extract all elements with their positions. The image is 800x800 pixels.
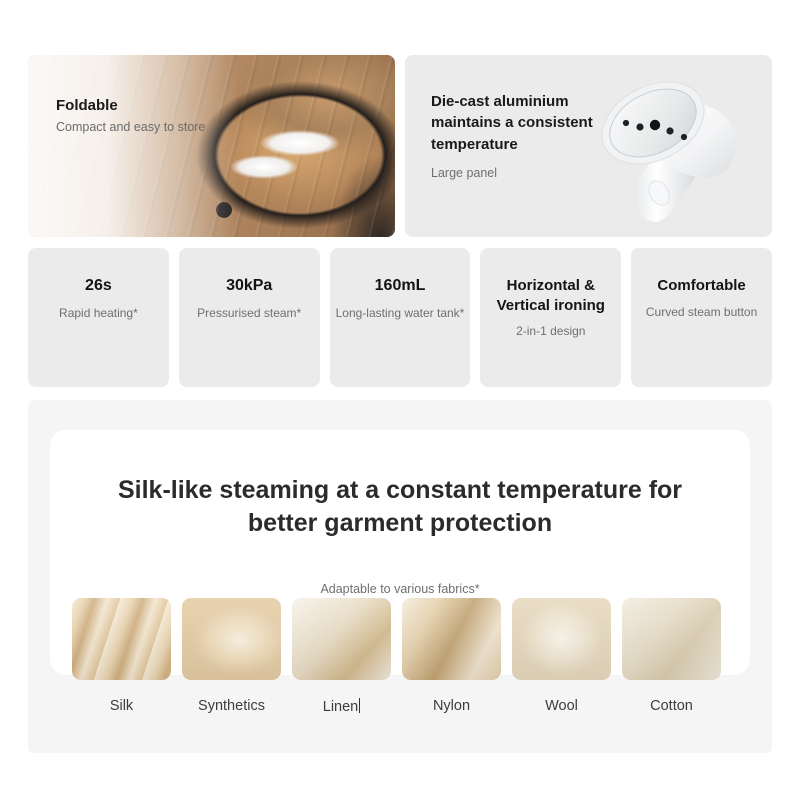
fabric-label-nylon[interactable]: Nylon	[402, 698, 501, 715]
fabric-swatch-cotton[interactable]	[622, 598, 721, 680]
product-feature-page: Foldable Compact and easy to store Die-c…	[0, 0, 800, 800]
spec-card-water-tank[interactable]: 160mL Long-lasting water tank*	[330, 248, 471, 387]
fabric-label-text-nylon: Nylon	[433, 698, 470, 714]
fabric-label-text-silk: Silk	[110, 698, 133, 714]
fabric-swatch-linen[interactable]	[292, 598, 391, 680]
spec-value-pressurised-steam: 30kPa	[179, 276, 320, 297]
hero-subtitle-aluminium: Large panel	[431, 166, 621, 180]
fabric-swatch-nylon[interactable]	[402, 598, 501, 680]
fabric-swatch-row	[72, 598, 732, 680]
fabric-section-subheading: Adaptable to various fabrics*	[50, 582, 750, 596]
fabric-swatch-silk[interactable]	[72, 598, 171, 680]
hero-card-foldable[interactable]: Foldable Compact and easy to store	[28, 55, 395, 237]
fabric-label-text-linen: Linen	[323, 699, 358, 715]
fabric-section-heading: Silk-like steaming at a constant tempera…	[50, 474, 750, 540]
spec-value-water-tank: 160mL	[330, 276, 471, 297]
fabric-label-row: Silk Synthetics Linen Nylon Wool Cotton	[72, 698, 732, 715]
fabric-label-linen[interactable]: Linen	[292, 698, 391, 715]
spec-label-comfortable: Curved steam button	[631, 304, 772, 320]
fabric-swatch-wool[interactable]	[512, 598, 611, 680]
text-caret	[359, 698, 360, 713]
spec-label-water-tank: Long-lasting water tank*	[330, 305, 471, 321]
spec-card-rapid-heating[interactable]: 26s Rapid heating*	[28, 248, 169, 387]
spec-label-ironing-direction: 2-in-1 design	[480, 323, 621, 339]
spec-card-ironing-direction[interactable]: Horizontal & Vertical ironing 2-in-1 des…	[480, 248, 621, 387]
spec-card-pressurised-steam[interactable]: 30kPa Pressurised steam*	[179, 248, 320, 387]
fabric-label-cotton[interactable]: Cotton	[622, 698, 721, 715]
fabric-label-text-wool: Wool	[545, 698, 578, 714]
fabric-swatch-synthetics[interactable]	[182, 598, 281, 680]
spec-value-ironing-direction: Horizontal & Vertical ironing	[480, 276, 621, 315]
hero-subtitle-foldable: Compact and easy to store	[56, 119, 236, 136]
hero-title-foldable: Foldable	[56, 97, 236, 116]
hero-title-aluminium: Die-cast aluminium maintains a consisten…	[431, 91, 621, 155]
fabric-label-silk[interactable]: Silk	[72, 698, 171, 715]
spec-label-rapid-heating: Rapid heating*	[28, 305, 169, 321]
spec-label-pressurised-steam: Pressurised steam*	[179, 305, 320, 321]
spec-value-rapid-heating: 26s	[28, 276, 169, 297]
hero-text-block-foldable: Foldable Compact and easy to store	[56, 97, 236, 136]
hero-text-block-aluminium: Die-cast aluminium maintains a consisten…	[431, 91, 621, 180]
fabric-label-text-cotton: Cotton	[650, 698, 693, 714]
spec-card-comfortable[interactable]: Comfortable Curved steam button	[631, 248, 772, 387]
fabric-label-text-synthetics: Synthetics	[198, 698, 265, 714]
fabric-label-wool[interactable]: Wool	[512, 698, 611, 715]
hero-card-die-cast-aluminium[interactable]: Die-cast aluminium maintains a consisten…	[405, 55, 772, 237]
spec-value-comfortable: Comfortable	[631, 276, 772, 296]
fabric-label-synthetics[interactable]: Synthetics	[182, 698, 281, 715]
fabric-section: Silk-like steaming at a constant tempera…	[28, 400, 772, 753]
photo-scrim-overlay	[28, 55, 238, 237]
hero-card-row: Foldable Compact and easy to store Die-c…	[28, 55, 772, 237]
spec-card-row: 26s Rapid heating* 30kPa Pressurised ste…	[28, 248, 772, 387]
